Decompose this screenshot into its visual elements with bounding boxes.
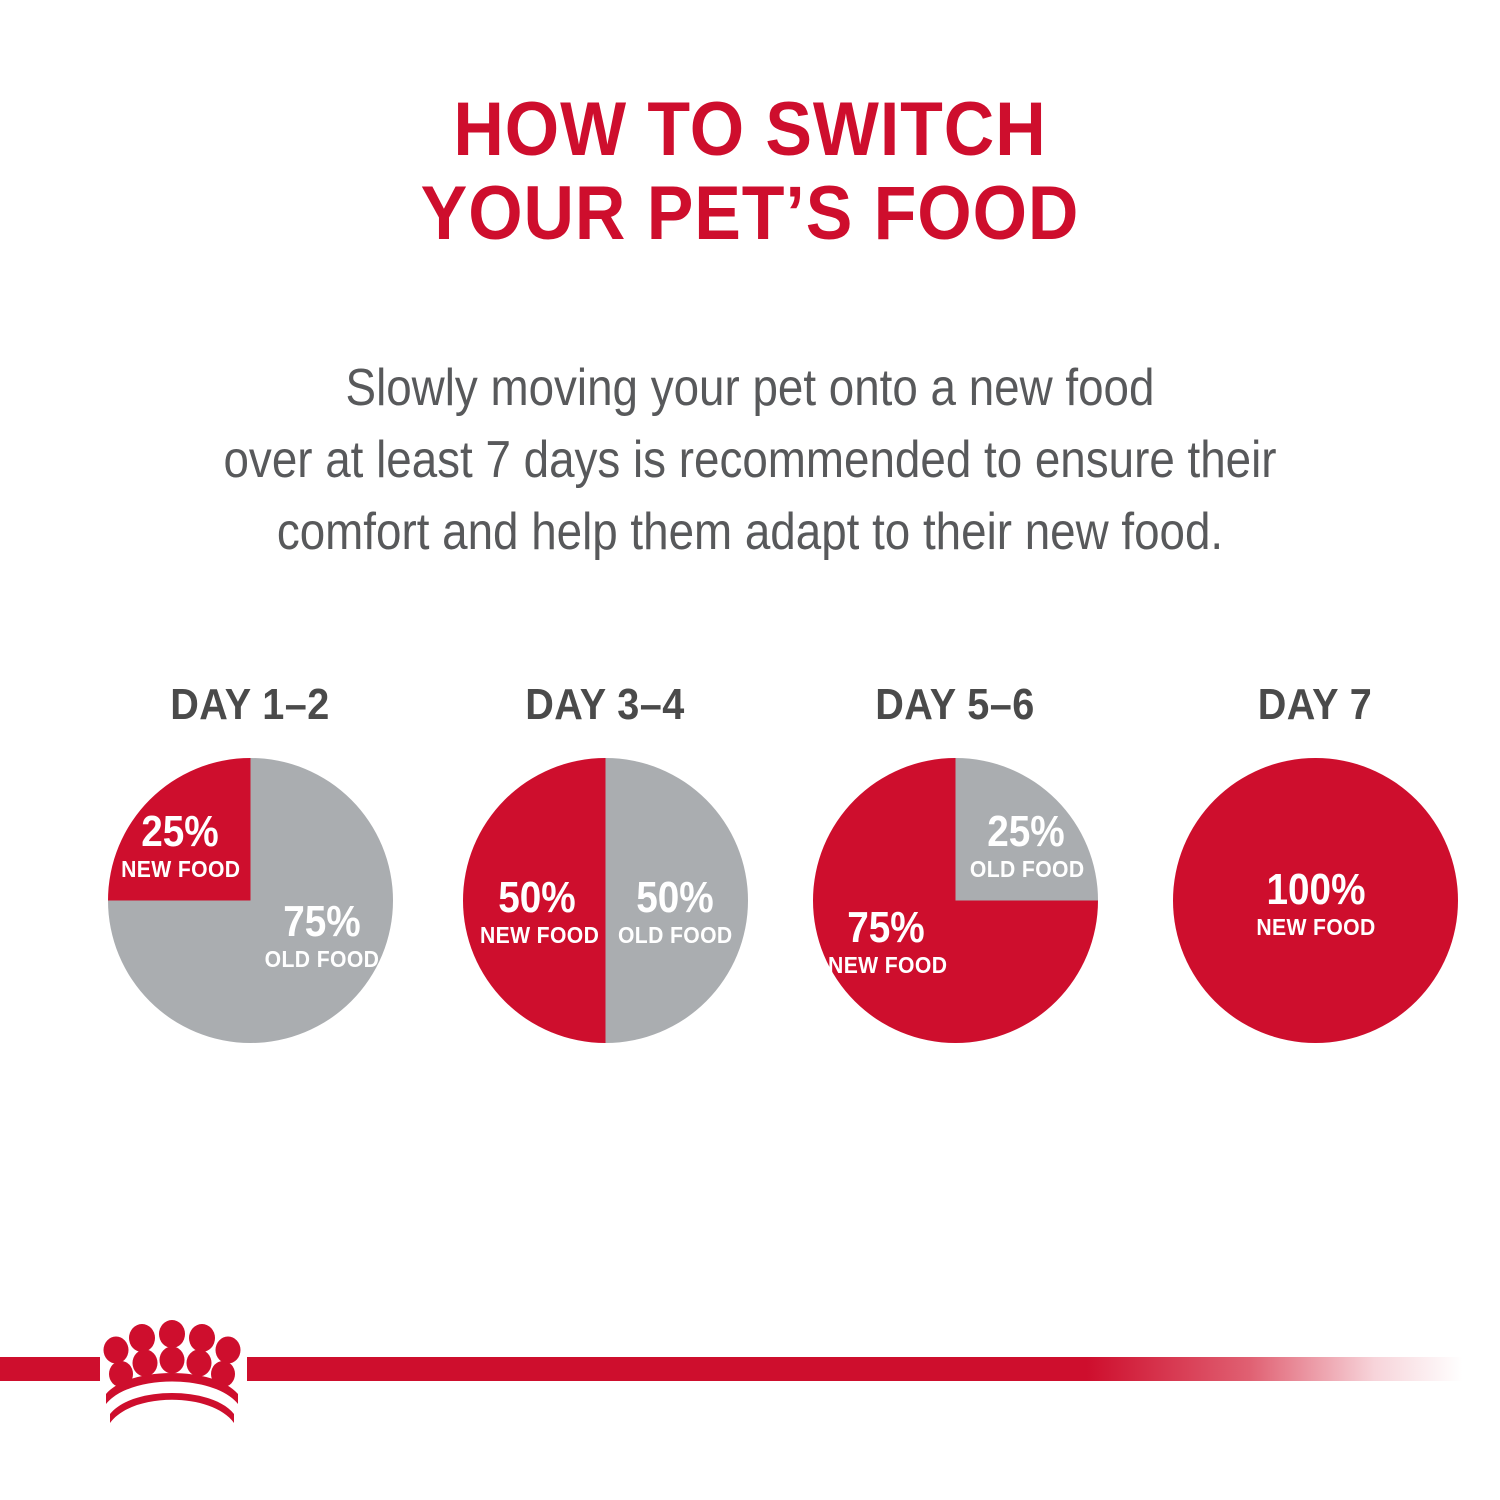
pie-cell-day-3-4: DAY 3–4 50% NEW FOOD 50% OLD FOOD [440,680,770,1100]
pie-svg-day-7 [1173,758,1458,1043]
pie-cell-day-5-6: DAY 5–6 25% OLD FOOD 75% NEW FOOD [790,680,1120,1100]
pie-cell-day-1-2: DAY 1–2 25% NEW FOOD 75% OLD FOOD [85,680,415,1100]
pie-slice-new-food [1173,758,1458,1043]
pie-slice-new-food [463,758,606,1043]
pie-slice-new-food [108,758,251,901]
pie-svg-day-5-6 [813,758,1098,1043]
pie-chart-day-1-2: 25% NEW FOOD 75% OLD FOOD [108,758,393,1043]
pie-svg-day-3-4 [463,758,748,1043]
day-label-1: DAY 1–2 [102,680,399,730]
intro-line-3: comfort and help them adapt to their new… [125,496,1375,568]
pie-svg-day-1-2 [108,758,393,1043]
crown-icon [96,1318,248,1426]
intro-paragraph: Slowly moving your pet onto a new food o… [125,352,1375,568]
brand-bar-right-segment [247,1357,1500,1381]
pie-chart-row: DAY 1–2 25% NEW FOOD 75% OLD FOOD DAY 3–… [0,680,1500,1100]
pie-cell-day-7: DAY 7 100% NEW FOOD [1150,680,1480,1100]
page-title-line-1: HOW TO SWITCH [60,88,1440,172]
page-title: HOW TO SWITCH YOUR PET’S FOOD [60,88,1440,256]
intro-line-1: Slowly moving your pet onto a new food [125,352,1375,424]
pie-slice-old-food [956,758,1099,901]
page-title-line-2: YOUR PET’S FOOD [60,172,1440,256]
royal-canin-crown-logo [96,1318,248,1426]
day-label-4: DAY 7 [1167,680,1464,730]
pie-slice-old-food [606,758,749,1043]
intro-line-2: over at least 7 days is recommended to e… [125,424,1375,496]
day-label-2: DAY 3–4 [457,680,754,730]
brand-bar-left-segment [0,1357,100,1381]
pie-chart-day-7: 100% NEW FOOD [1173,758,1458,1043]
day-label-3: DAY 5–6 [807,680,1104,730]
pie-chart-day-3-4: 50% NEW FOOD 50% OLD FOOD [463,758,748,1043]
pie-chart-day-5-6: 25% OLD FOOD 75% NEW FOOD [813,758,1098,1043]
